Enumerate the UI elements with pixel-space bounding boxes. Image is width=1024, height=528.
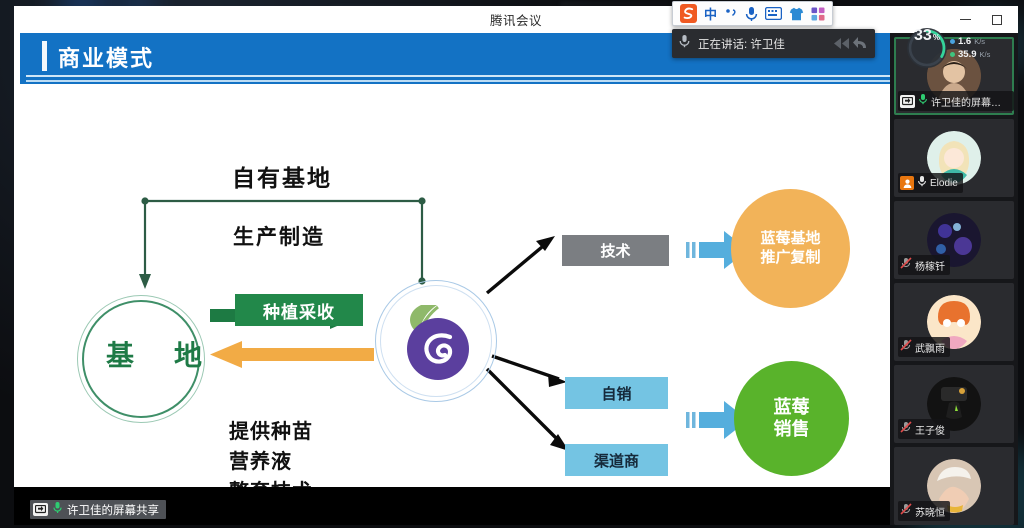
sogou-logo-icon[interactable]	[680, 4, 697, 23]
upload-unit: K/s	[974, 37, 985, 46]
slide-canvas: 自有基地 生产制造 种植采收 基 地 提供种苗 营养液 整套技术	[14, 84, 890, 511]
sogou-ime-toolbar[interactable]: 中	[672, 1, 833, 26]
circle-base-promotion: 蓝莓基地 推广复制	[731, 189, 850, 308]
participant-name-4: 王子俊	[915, 422, 945, 437]
download-dot-icon	[950, 52, 955, 57]
network-rates: 1.6 K/s 35.9 K/s	[950, 36, 990, 60]
black-fan-arrows	[487, 242, 562, 444]
microphone-muted-icon	[900, 502, 912, 520]
circle-blueberry-sales-label: 蓝莓 销售	[774, 397, 810, 441]
window-title: 腾讯会议	[490, 10, 542, 29]
window-body: 商业模式	[14, 33, 1018, 525]
participant-nameplate-1: Elodie	[898, 173, 963, 193]
microphone-icon	[918, 92, 928, 110]
skin-button[interactable]	[789, 7, 804, 21]
shared-screen-area[interactable]: 商业模式	[14, 33, 890, 525]
label-supply-line-1: 提供种苗	[229, 415, 313, 444]
participant-tile-3[interactable]: 武飘雨	[894, 283, 1014, 361]
cpu-usage-value: 33 %	[906, 27, 948, 69]
microphone-icon	[917, 174, 927, 192]
toolbox-button[interactable]	[811, 7, 825, 21]
microphone-muted-icon	[900, 338, 912, 356]
title-accent-bar	[42, 41, 47, 71]
toast-controls[interactable]	[832, 36, 868, 51]
language-mode-button[interactable]: 中	[704, 4, 717, 23]
host-badge-icon	[900, 176, 914, 190]
upload-rate: 1.6 K/s	[950, 36, 990, 47]
participant-name-1: Elodie	[930, 178, 958, 189]
meeting-window: 腾讯会议 商业模式	[14, 6, 1018, 522]
participant-nameplate-2: 杨稼钎	[898, 255, 950, 275]
participant-name-2: 杨稼钎	[915, 258, 945, 273]
speaking-notification-text: 正在讲话: 许卫佳	[698, 36, 785, 52]
share-status-bar[interactable]: 许卫佳的屏幕共享	[30, 500, 166, 519]
participant-tile-1[interactable]: Elodie	[894, 119, 1014, 197]
participant-tile-5[interactable]: 苏晓恒	[894, 447, 1014, 525]
soft-keyboard-button[interactable]	[765, 7, 782, 20]
participant-nameplate-3: 武飘雨	[898, 337, 950, 357]
label-base-circle: 基 地	[106, 334, 208, 374]
speaking-notification[interactable]: 正在讲话: 许卫佳	[672, 29, 875, 58]
participant-tile-4[interactable]: 王子俊	[894, 365, 1014, 443]
collapse-arrows-icon	[832, 36, 850, 51]
cpu-percent: 33	[914, 27, 932, 45]
participant-name-0: 许卫佳的屏幕共享	[931, 94, 1009, 109]
participant-tile-2[interactable]: 杨稼钎	[894, 201, 1014, 279]
upload-dot-icon	[950, 39, 955, 44]
circle-blueberry-sales: 蓝莓 销售	[734, 361, 849, 476]
circle-base-promotion-label: 蓝莓基地 推广复制	[760, 230, 820, 267]
punctuation-mode-button[interactable]	[724, 7, 738, 21]
participant-name-5: 苏晓恒	[915, 504, 945, 519]
network-monitor-overlay[interactable]: 33 % 1.6 K/s 35.9 K/s	[906, 26, 1018, 70]
slide-title: 商业模式	[58, 41, 154, 73]
participant-nameplate-4: 王子俊	[898, 419, 950, 439]
upload-value: 1.6	[958, 36, 971, 47]
label-planting-harvest: 种植采收	[235, 294, 363, 326]
download-unit: K/s	[980, 50, 991, 59]
share-status-text: 许卫佳的屏幕共享	[67, 502, 159, 518]
cpu-usage-ring: 33 %	[906, 27, 948, 69]
header-divider-1	[26, 75, 890, 77]
microphone-icon	[52, 501, 63, 519]
header-divider-2	[26, 80, 890, 82]
undo-arrow-icon	[852, 36, 868, 51]
orange-flow-arrow	[210, 341, 374, 368]
download-value: 35.9	[958, 49, 977, 60]
microphone-icon	[679, 34, 690, 53]
download-rate: 35.9 K/s	[950, 49, 990, 60]
participant-nameplate-0: 许卫佳的屏幕共享	[898, 91, 1014, 111]
voice-input-button[interactable]	[745, 6, 758, 22]
label-supply-line-2: 营养液	[229, 445, 292, 474]
label-own-base: 自有基地	[232, 159, 332, 193]
blueberry-logo-icon	[388, 293, 484, 389]
box-self-sales: 自销	[565, 377, 668, 409]
microphone-muted-icon	[900, 420, 912, 438]
screen-share-icon	[33, 503, 48, 516]
microphone-muted-icon	[900, 256, 912, 274]
screen-share-icon	[900, 95, 915, 108]
participants-panel[interactable]: 许卫佳的屏幕共享 Elodie	[890, 33, 1018, 525]
box-technology: 技术	[562, 235, 669, 266]
presentation-slide: 商业模式	[14, 33, 890, 511]
participant-name-3: 武飘雨	[915, 340, 945, 355]
cpu-percent-unit: %	[933, 33, 940, 42]
box-channel-distributor: 渠道商	[565, 444, 668, 476]
participant-nameplate-5: 苏晓恒	[898, 501, 950, 521]
label-production: 生产制造	[233, 221, 325, 251]
